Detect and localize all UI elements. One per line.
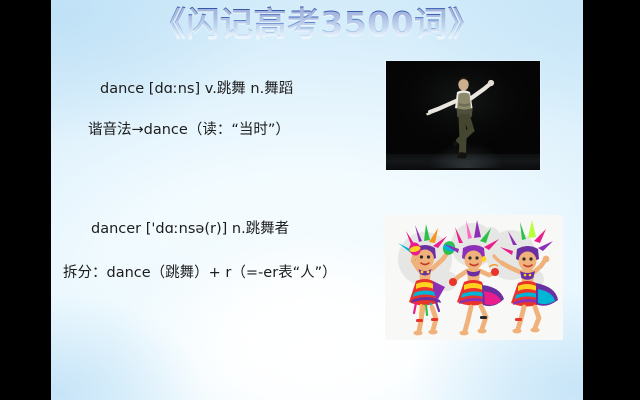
page-title: 《闪记高考3500词》 [51, 4, 583, 44]
slide-canvas: 《闪记高考3500词》 dance [dɑːns] v.跳舞 n.舞蹈 谐音法→… [51, 0, 583, 400]
letterbox-bar-left [0, 0, 51, 400]
vocab-entry-dancer: dancer ['dɑːnsə(r)] n.跳舞者 [91, 219, 289, 239]
mnemonic-homophone: 谐音法→dance（读：“当时”） [88, 120, 290, 140]
mnemonic-decomposition: 拆分：dance（跳舞）+ r（=-er表“人”） [63, 263, 337, 283]
slide-screen: 《闪记高考3500词》 dance [dɑːns] v.跳舞 n.舞蹈 谐音法→… [0, 0, 640, 400]
carnival-dancers-illustration [385, 215, 563, 340]
letterbox-bar-right [583, 0, 640, 400]
carnival-dancers-figure-icon [385, 215, 563, 340]
vocab-entry-dance: dance [dɑːns] v.跳舞 n.舞蹈 [100, 79, 293, 99]
dancer-stage-photo [386, 61, 540, 170]
dancer-figure-icon [386, 61, 540, 170]
